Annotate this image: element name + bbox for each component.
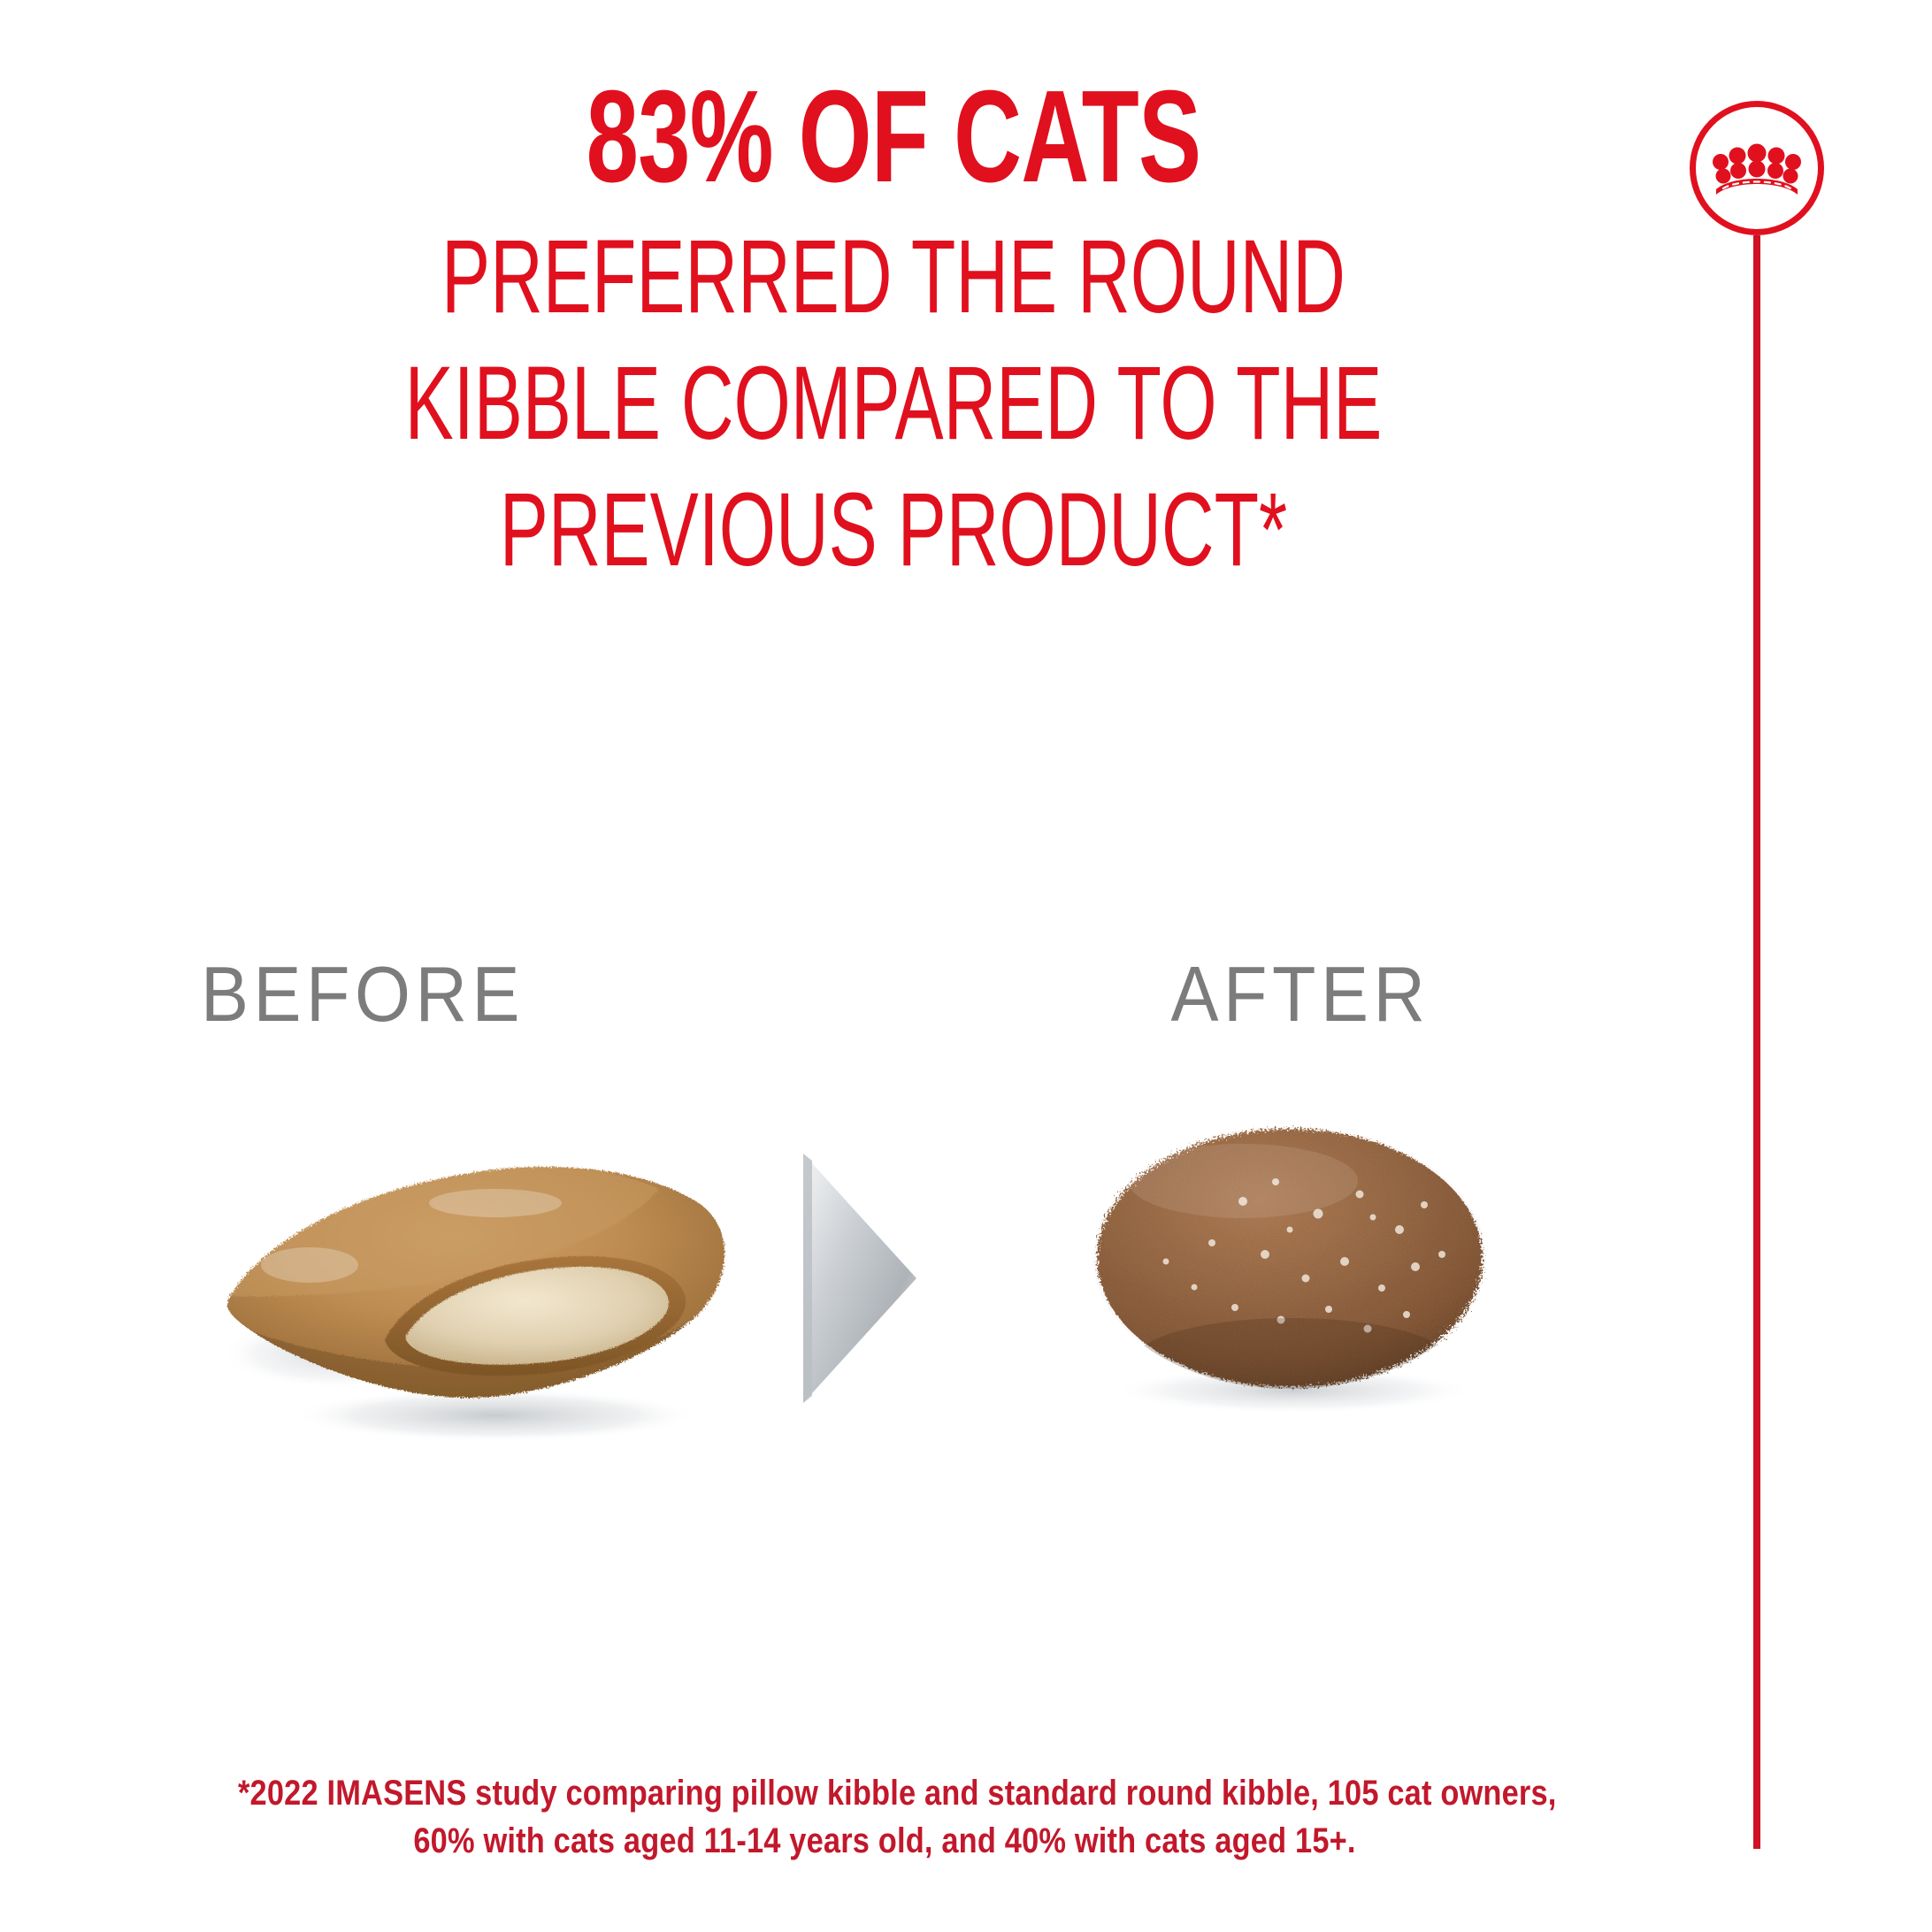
- footnote: *2022 IMASENS study comparing pillow kib…: [238, 1769, 1531, 1865]
- before-column: BEFORE: [53, 955, 672, 1113]
- headline-subtitle: PREFERRED THE ROUND KIBBLE COMPARED TO T…: [379, 217, 1407, 591]
- after-label: AFTER: [1016, 955, 1585, 1033]
- headline-block: 83% OF CATS PREFERRED THE ROUND KIBBLE C…: [159, 71, 1628, 596]
- crown-icon: [1711, 143, 1803, 198]
- footnote-line-1: *2022 IMASENS study comparing pillow kib…: [238, 1769, 1531, 1817]
- headline-stat: 83% OF CATS: [364, 71, 1422, 204]
- after-column: AFTER: [991, 955, 1610, 1113]
- arrow-right-icon: [798, 1150, 922, 1407]
- after-kibble-image: [1053, 1097, 1530, 1433]
- logo-vertical-line: [1753, 235, 1760, 1849]
- pillow-kibble-illustration: [203, 1132, 752, 1451]
- royal-canin-logo: [1690, 101, 1824, 235]
- transition-arrow: [798, 1150, 922, 1407]
- headline-subtitle-line-3: PREVIOUS PRODUCT*: [379, 470, 1407, 591]
- poster-canvas: 83% OF CATS PREFERRED THE ROUND KIBBLE C…: [0, 0, 1932, 1932]
- footnote-line-2: 60% with cats aged 11-14 years old, and …: [238, 1817, 1531, 1865]
- headline-subtitle-line-1: PREFERRED THE ROUND: [379, 217, 1407, 338]
- before-kibble-image: [203, 1132, 752, 1451]
- round-kibble-illustration: [1053, 1097, 1530, 1433]
- headline-subtitle-line-2: KIBBLE COMPARED TO THE: [379, 343, 1407, 464]
- before-label: BEFORE: [78, 955, 648, 1033]
